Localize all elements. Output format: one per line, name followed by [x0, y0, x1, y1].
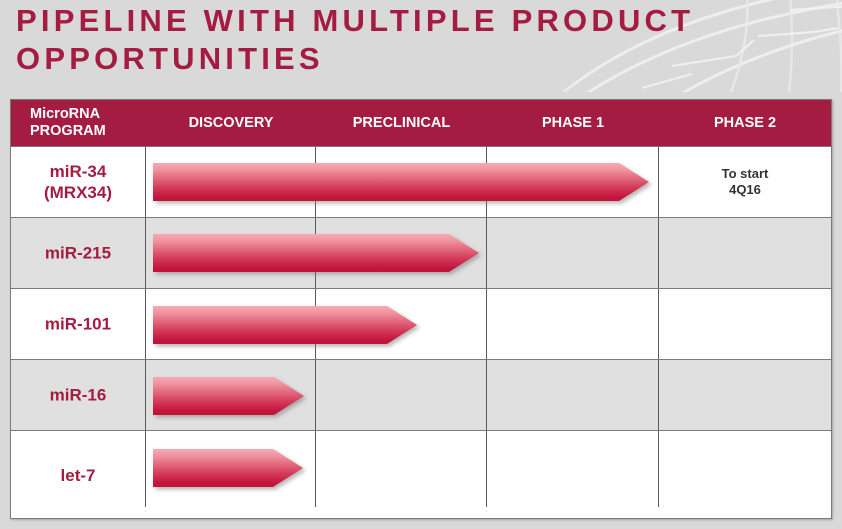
program-label: miR-101 — [11, 314, 145, 335]
table-row: let-7 — [11, 431, 831, 507]
header-microrna-program: MicroRNA PROGRAM — [11, 100, 146, 146]
stage-cell-phase-1 — [487, 218, 659, 288]
stage-cell-discovery — [146, 147, 316, 217]
stage-cell-preclinical — [316, 289, 487, 359]
program-label: let-7 — [11, 465, 145, 486]
program-cell: miR-215 — [11, 218, 146, 288]
program-cell: let-7 — [11, 431, 146, 507]
header-phase-1: PHASE 1 — [487, 100, 659, 146]
status-note: To start 4Q16 — [659, 166, 831, 198]
header-preclinical: PRECLINICAL — [316, 100, 487, 146]
title-band: PIPELINE WITH MULTIPLE PRODUCT OPPORTUNI… — [0, 0, 842, 92]
stage-cell-discovery — [146, 218, 316, 288]
pipeline-table: MicroRNA PROGRAM DISCOVERY PRECLINICAL P… — [10, 99, 832, 519]
table-header-row: MicroRNA PROGRAM DISCOVERY PRECLINICAL P… — [11, 100, 831, 147]
program-label: miR-16 — [11, 385, 145, 406]
slide: PIPELINE WITH MULTIPLE PRODUCT OPPORTUNI… — [0, 0, 842, 529]
stage-cell-preclinical — [316, 431, 487, 507]
stage-cell-discovery — [146, 431, 316, 507]
stage-cell-phase-1 — [487, 289, 659, 359]
stage-cell-phase-2 — [659, 431, 831, 507]
program-label: miR-34 (MRX34) — [11, 161, 145, 203]
program-cell: miR-16 — [11, 360, 146, 430]
stage-cell-preclinical — [316, 360, 487, 430]
stage-cell-preclinical — [316, 218, 487, 288]
header-discovery: DISCOVERY — [146, 100, 316, 146]
stage-cell-phase-2 — [659, 218, 831, 288]
program-cell: miR-34 (MRX34) — [11, 147, 146, 217]
stage-cell-phase-1 — [487, 431, 659, 507]
stage-cell-preclinical — [316, 147, 487, 217]
table-row: miR-215 — [11, 218, 831, 289]
stage-cell-phase-2 — [659, 289, 831, 359]
table-row: miR-34 (MRX34) To start 4Q16 — [11, 147, 831, 218]
stage-cell-discovery — [146, 289, 316, 359]
page-title: PIPELINE WITH MULTIPLE PRODUCT OPPORTUNI… — [16, 2, 826, 78]
stage-cell-discovery — [146, 360, 316, 430]
stage-cell-phase-2: To start 4Q16 — [659, 147, 831, 217]
table-row: miR-101 — [11, 289, 831, 360]
stage-cell-phase-1 — [487, 360, 659, 430]
program-label: miR-215 — [11, 243, 145, 264]
stage-cell-phase-2 — [659, 360, 831, 430]
program-cell: miR-101 — [11, 289, 146, 359]
table-row: miR-16 — [11, 360, 831, 431]
stage-cell-phase-1 — [487, 147, 659, 217]
header-phase-2: PHASE 2 — [659, 100, 831, 146]
